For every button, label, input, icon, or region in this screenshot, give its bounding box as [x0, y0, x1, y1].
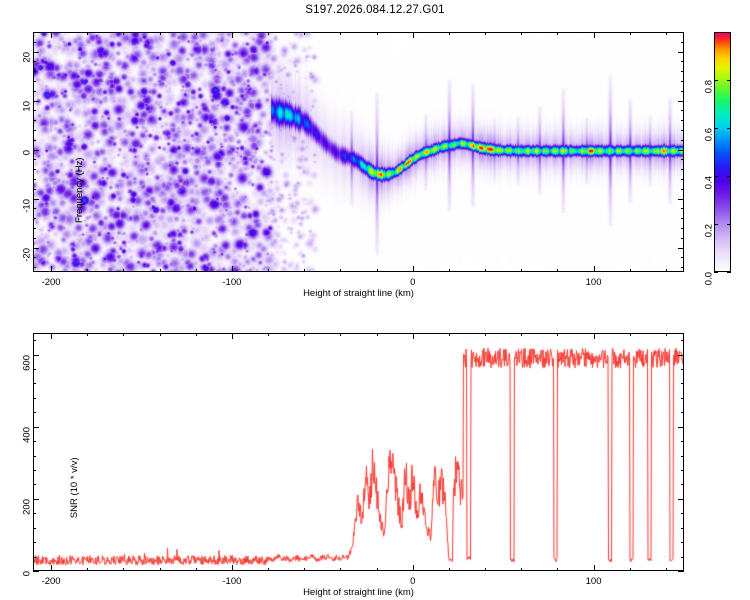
axis-tick	[340, 333, 341, 336]
axis-tick	[160, 333, 161, 336]
x-tick-label: 0	[410, 576, 415, 587]
axis-tick	[33, 484, 36, 485]
x-tick-label: 100	[586, 576, 602, 587]
axis-tick	[33, 369, 36, 370]
axis-tick	[681, 484, 684, 485]
y-tick-label: 0	[22, 571, 33, 576]
axis-tick	[678, 571, 684, 572]
axis-tick	[681, 340, 684, 341]
axis-tick	[678, 427, 684, 428]
axis-tick	[33, 571, 39, 572]
axis-tick	[681, 383, 684, 384]
axis-tick	[630, 333, 631, 336]
axis-tick	[51, 565, 52, 571]
axis-tick	[33, 340, 36, 341]
axis-tick	[377, 333, 378, 336]
axis-tick	[594, 333, 595, 339]
axis-tick	[594, 565, 595, 571]
axis-tick	[678, 355, 684, 356]
axis-tick	[681, 456, 684, 457]
axis-tick	[666, 568, 667, 571]
axis-tick	[377, 568, 378, 571]
x-tick-label: -200	[42, 576, 61, 587]
axis-tick	[268, 333, 269, 336]
axis-tick	[557, 333, 558, 336]
axis-tick	[340, 568, 341, 571]
axis-tick	[33, 513, 36, 514]
axis-tick	[51, 333, 52, 339]
axis-tick	[681, 470, 684, 471]
axis-tick	[33, 456, 36, 457]
figure-root: S197.2026.084.12.27.G01 -200-1000100-20-…	[0, 0, 750, 600]
axis-tick	[232, 565, 233, 571]
axis-tick	[681, 441, 684, 442]
axis-tick	[521, 568, 522, 571]
axis-tick	[33, 542, 36, 543]
axis-tick	[196, 333, 197, 336]
axis-tick	[33, 427, 39, 428]
snr-ticks: -200-10001000200400600	[0, 0, 750, 600]
axis-tick	[87, 568, 88, 571]
axis-tick	[413, 565, 414, 571]
axis-tick	[123, 333, 124, 336]
axis-tick	[521, 333, 522, 336]
y-tick-label: 600	[22, 355, 33, 371]
x-tick-label: -100	[222, 576, 241, 587]
axis-tick	[160, 568, 161, 571]
axis-tick	[33, 383, 36, 384]
axis-tick	[33, 557, 36, 558]
axis-tick	[33, 398, 36, 399]
axis-tick	[681, 557, 684, 558]
axis-tick	[33, 441, 36, 442]
axis-tick	[33, 499, 39, 500]
y-tick-label: 200	[22, 499, 33, 515]
snr-ylabel: SNR (10 * v/v)	[69, 458, 80, 519]
axis-tick	[196, 568, 197, 571]
axis-tick	[304, 333, 305, 336]
axis-tick	[304, 568, 305, 571]
axis-tick	[557, 568, 558, 571]
axis-tick	[87, 333, 88, 336]
axis-tick	[268, 568, 269, 571]
axis-tick	[681, 542, 684, 543]
axis-tick	[681, 369, 684, 370]
axis-tick	[681, 528, 684, 529]
snr-xlabel: Height of straight line (km)	[33, 587, 684, 598]
axis-tick	[630, 568, 631, 571]
axis-tick	[33, 528, 36, 529]
axis-tick	[681, 412, 684, 413]
axis-tick	[449, 333, 450, 336]
axis-tick	[681, 398, 684, 399]
axis-tick	[33, 355, 39, 356]
axis-tick	[232, 333, 233, 339]
y-tick-label: 400	[22, 427, 33, 443]
axis-tick	[33, 412, 36, 413]
axis-tick	[413, 333, 414, 339]
axis-tick	[123, 568, 124, 571]
axis-tick	[485, 568, 486, 571]
axis-tick	[33, 470, 36, 471]
axis-tick	[681, 513, 684, 514]
axis-tick	[485, 333, 486, 336]
axis-tick	[449, 568, 450, 571]
axis-tick	[666, 333, 667, 336]
axis-tick	[678, 499, 684, 500]
